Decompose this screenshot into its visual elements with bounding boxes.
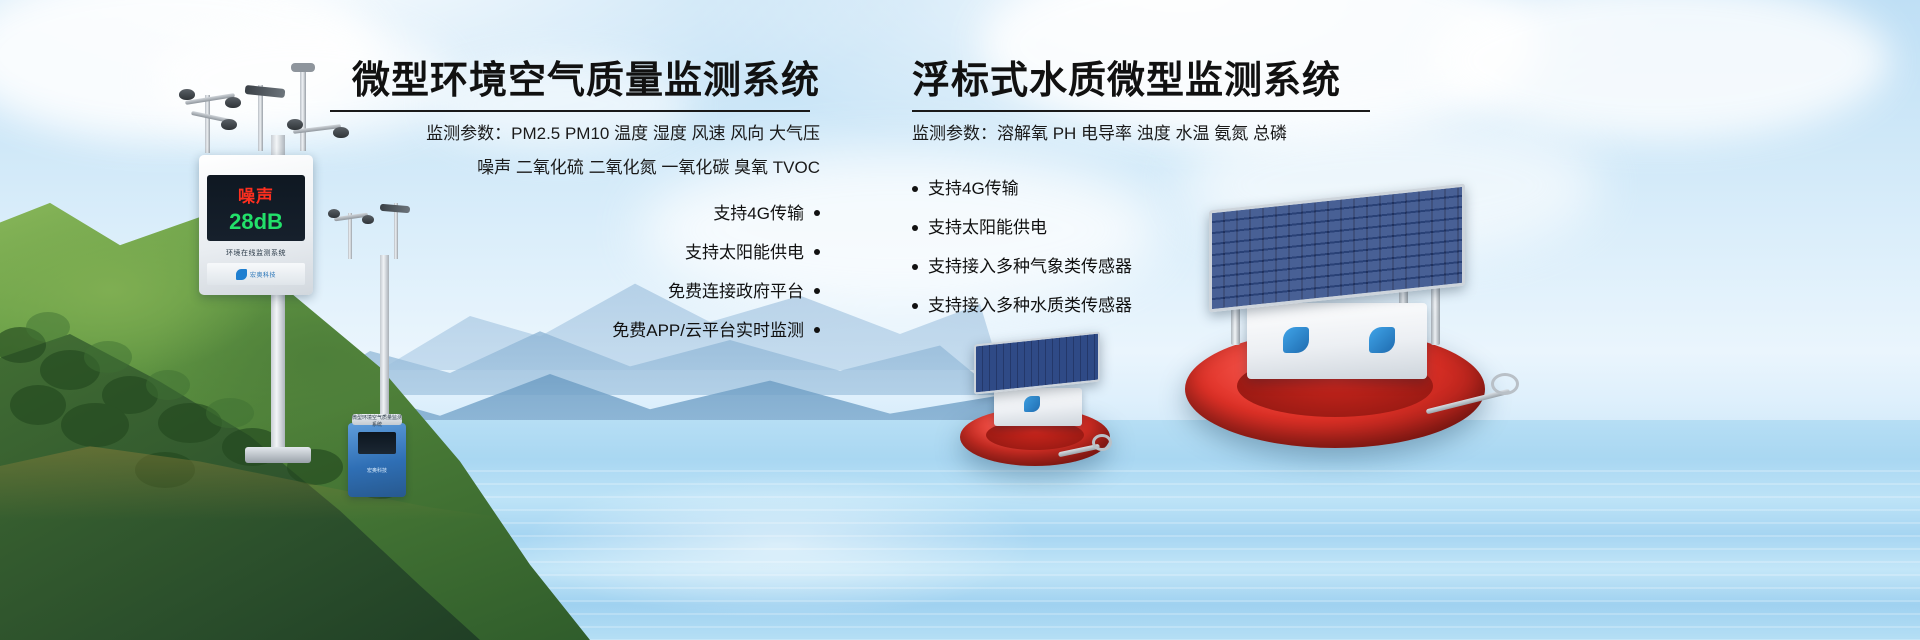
bullet-label: 支持接入多种气象类传感器 [928, 258, 1132, 275]
antenna-cap [291, 63, 315, 72]
right-param-line-1: 监测参数：溶解氧 PH 电导率 浊度 水温 氨氮 总磷 [912, 121, 1392, 147]
bullet-dot-icon [814, 327, 820, 333]
bullet-label: 支持接入多种水质类传感器 [928, 297, 1132, 314]
solar-panel [974, 331, 1100, 394]
list-item: 免费连接政府平台 [330, 283, 820, 300]
wind-vane-icon [245, 85, 286, 98]
list-item: 支持太阳能供电 [912, 219, 1392, 236]
bullet-label: 支持太阳能供电 [928, 219, 1047, 236]
bullet-label: 支持4G传输 [928, 180, 1019, 197]
bullet-dot-icon [912, 264, 918, 270]
station-base [245, 447, 311, 463]
buoy-arm-ring-icon [1092, 434, 1112, 451]
anemometer-cup-icon [179, 89, 195, 100]
antenna-mast [300, 71, 306, 151]
buoy-cabinet [994, 388, 1082, 426]
left-product-panel: 微型环境空气质量监测系统 监测参数：PM2.5 PM10 温度 湿度 风速 风向… [330, 60, 820, 361]
bullet-label: 支持太阳能供电 [685, 244, 804, 261]
left-param-line-1: 监测参数：PM2.5 PM10 温度 湿度 风速 风向 大气压 [330, 121, 820, 147]
bullet-label: 免费连接政府平台 [668, 283, 804, 300]
left-panel-title: 微型环境空气质量监测系统 [330, 60, 820, 104]
list-item: 支持4G传输 [330, 205, 820, 222]
right-panel-title: 浮标式水质微型监测系统 [912, 60, 1392, 104]
compact-station-screen [358, 432, 396, 454]
sensor-mast-left [205, 95, 210, 153]
water-quality-buoy-small [960, 330, 1110, 480]
bullet-dot-icon [814, 288, 820, 294]
list-item: 支持接入多种水质类传感器 [912, 297, 1392, 314]
brand-logo-icon [1024, 396, 1040, 412]
left-panel-divider [330, 110, 810, 112]
noise-display-label: 噪声 [238, 182, 274, 207]
brand-logo-text: 宏奥科技 [250, 270, 276, 279]
right-product-panel: 浮标式水质微型监测系统 监测参数：溶解氧 PH 电导率 浊度 水温 氨氮 总磷 … [912, 60, 1392, 336]
bullet-dot-icon [912, 186, 918, 192]
promo-banner: 噪声 28dB 环境在线监测系统 宏奥科技 微型环境空气质量监测系统 宏奥科技 [0, 0, 1920, 640]
buoy-arm-ring-icon [1491, 373, 1519, 395]
compact-station-caption: 微型环境空气质量监测系统 [352, 414, 402, 425]
right-panel-divider [912, 110, 1370, 112]
bullet-dot-icon [814, 210, 820, 216]
station-display-screen: 噪声 28dB [207, 175, 305, 241]
water-glint [520, 470, 1040, 620]
left-feature-list: 支持4G传输 支持太阳能供电 免费连接政府平台 免费APP/云平台实时监测 [330, 205, 820, 339]
bullet-dot-icon [814, 249, 820, 255]
anemometer-cup-icon [221, 119, 237, 130]
cabinet-caption: 环境在线监测系统 [207, 247, 305, 260]
bullet-label: 免费APP/云平台实时监测 [612, 322, 804, 339]
bullet-label: 支持4G传输 [713, 205, 804, 222]
list-item: 支持太阳能供电 [330, 244, 820, 261]
left-param-line-2: 噪声 二氧化硫 二氧化氮 一氧化碳 臭氧 TVOC [330, 155, 820, 181]
brand-logo-icon [236, 269, 247, 280]
bullet-dot-icon [912, 225, 918, 231]
air-monitoring-station: 噪声 28dB 环境在线监测系统 宏奥科技 [95, 35, 355, 455]
noise-display-value: 28dB [229, 209, 283, 235]
anemometer-cup-icon [225, 97, 241, 108]
bullet-dot-icon [912, 303, 918, 309]
compact-station-box: 微型环境空气质量监测系统 [348, 423, 406, 497]
list-item: 免费APP/云平台实时监测 [330, 322, 820, 339]
anemometer-cup-icon [287, 119, 303, 130]
right-feature-list: 支持4G传输 支持太阳能供电 支持接入多种气象类传感器 支持接入多种水质类传感器 [912, 180, 1392, 314]
compact-station-brand: 宏奥科技 [350, 467, 404, 474]
list-item: 支持4G传输 [912, 180, 1392, 197]
list-item: 支持接入多种气象类传感器 [912, 258, 1392, 275]
brand-logo-strip: 宏奥科技 [207, 263, 305, 285]
